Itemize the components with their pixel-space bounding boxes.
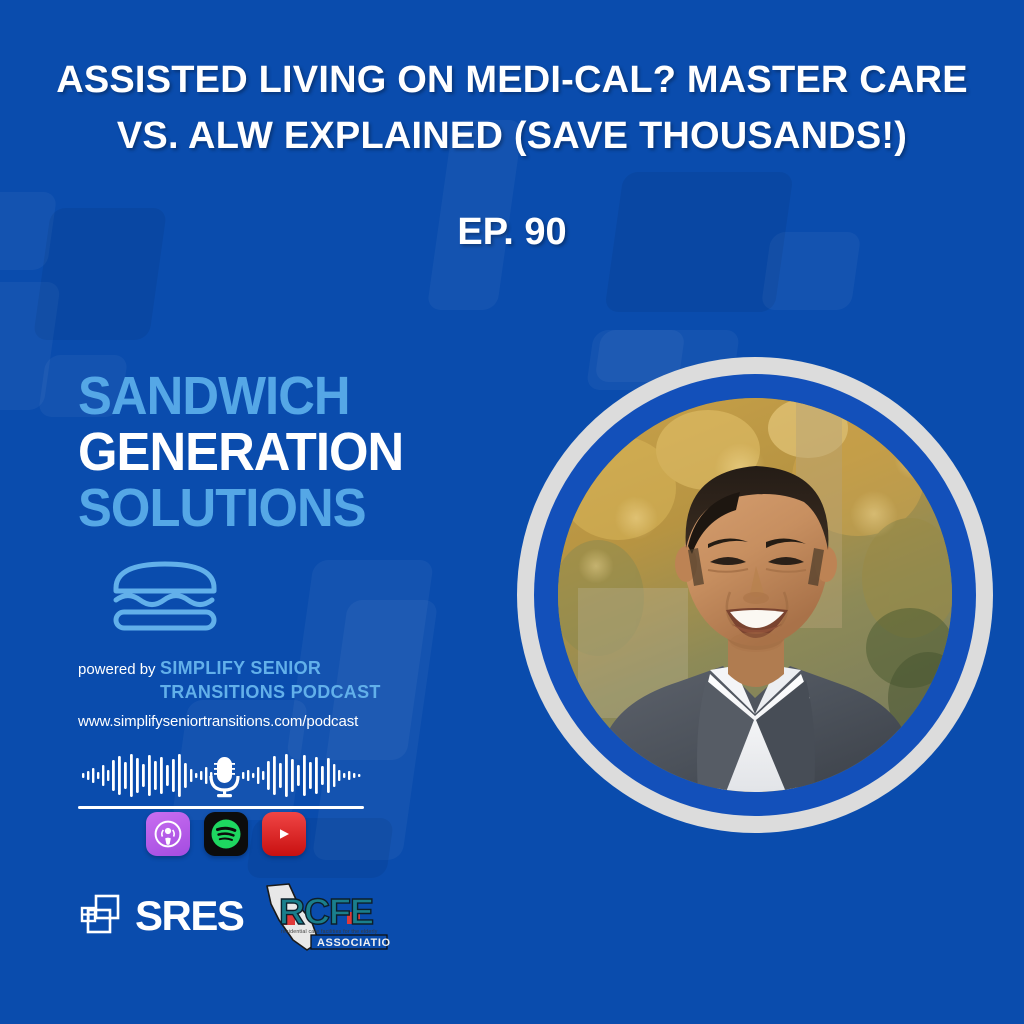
apple-podcasts-icon[interactable] [146, 812, 190, 856]
podcast-cover-art: ASSISTED LIVING ON MEDI-CAL? MASTER CARE… [0, 0, 1024, 1024]
powered-by-prefix: powered by [78, 661, 156, 678]
audio-waveform [78, 752, 364, 798]
powered-by-block: powered by SIMPLIFY SENIOR TRANSITIONS P… [78, 657, 398, 703]
title-line-2: VS. ALW EXPLAINED (SAVE THOUSANDS!) [0, 108, 1024, 164]
brand-logo-block: SANDWICH GENERATION SOLUTIONS powered by… [78, 368, 398, 952]
rcfe-sub-label: ASSOCIATION [317, 937, 391, 949]
rcfe-letters: RCFE [279, 891, 373, 932]
host-headshot-illustration [558, 398, 952, 792]
sres-label: SRES [135, 895, 243, 937]
youtube-icon[interactable] [262, 812, 306, 856]
bg-tile [0, 282, 61, 410]
title-line-1: ASSISTED LIVING ON MEDI-CAL? MASTER CARE [0, 52, 1024, 108]
sandwich-icon [106, 558, 398, 637]
waveform-divider [78, 806, 364, 809]
episode-title-block: ASSISTED LIVING ON MEDI-CAL? MASTER CARE… [0, 52, 1024, 256]
brand-line-generation: GENERATION [78, 424, 379, 480]
powered-by-name-line2: TRANSITIONS PODCAST [78, 681, 398, 703]
microphone-icon [211, 757, 238, 797]
rcfe-tagline: residential care facilities for the elde… [281, 929, 378, 935]
powered-by-name-line1: SIMPLIFY SENIOR [160, 658, 321, 678]
host-headshot [558, 398, 952, 792]
rcfe-logo: RCFE residential care facilities for the… [259, 880, 391, 952]
brand-line-solutions: SOLUTIONS [78, 480, 379, 536]
host-portrait-ring-outer [517, 357, 993, 833]
episode-number: EP. 90 [0, 208, 1024, 256]
host-portrait-ring-inner [534, 374, 976, 816]
podcast-url[interactable]: www.simplifyseniortransitions.com/podcas… [78, 713, 398, 730]
sres-logo: SRES [78, 890, 243, 943]
sres-squares-icon [78, 890, 126, 943]
brand-line-sandwich: SANDWICH [78, 368, 379, 424]
platform-icons [78, 812, 398, 856]
certification-logos: SRES RCFE residential care facilities fo… [78, 880, 398, 952]
spotify-icon[interactable] [204, 812, 248, 856]
